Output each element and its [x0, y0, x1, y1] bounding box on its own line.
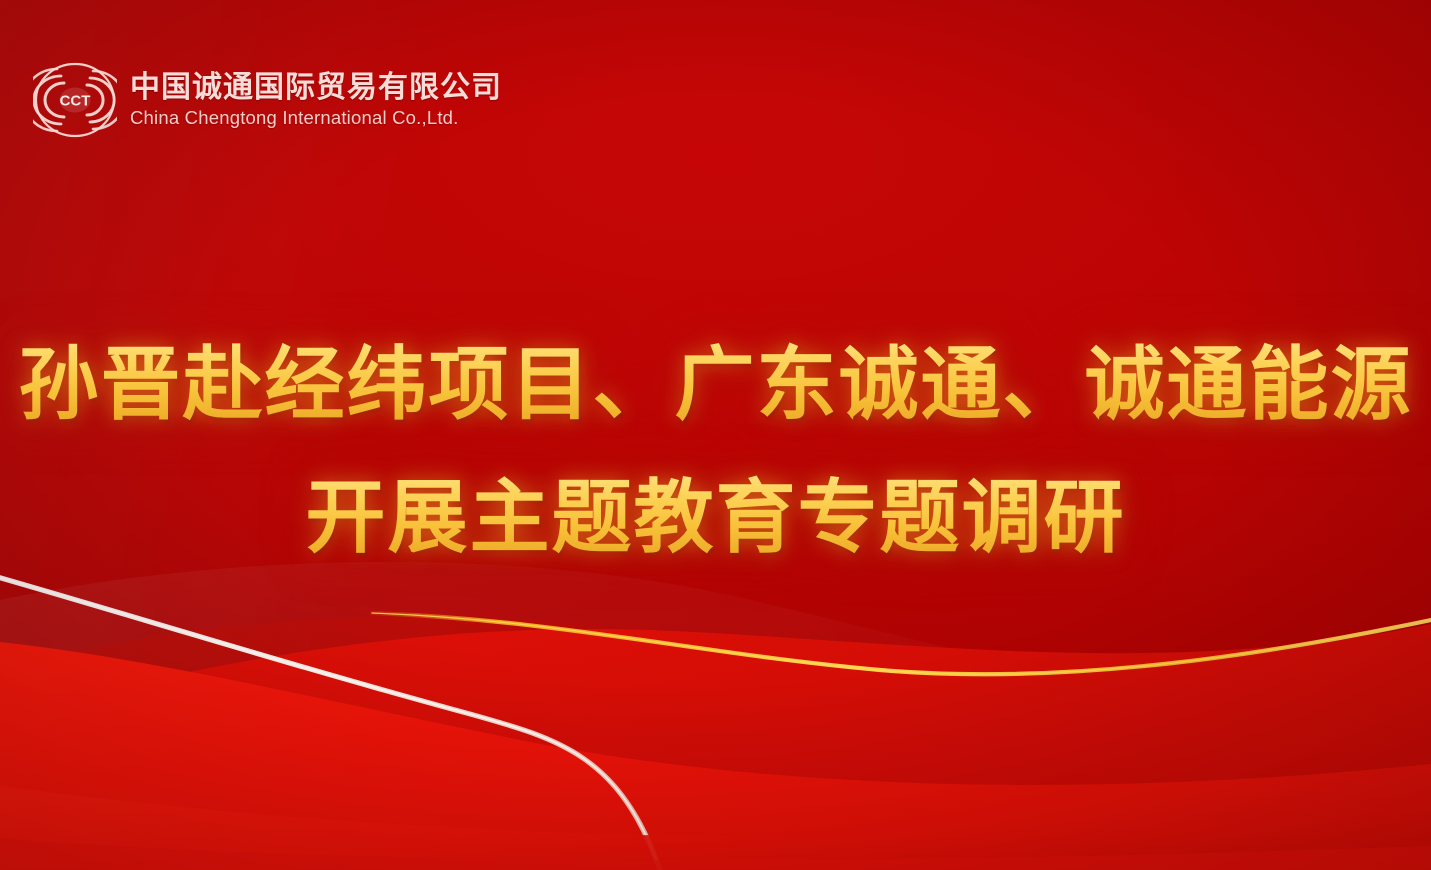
company-logo: CCT 中国诚通国际贸易有限公司 China Chengtong Interna… — [33, 60, 502, 140]
bottom-wave-decoration — [0, 550, 1431, 870]
company-name-cn: 中国诚通国际贸易有限公司 — [130, 73, 502, 103]
concentric-rings-logo-icon: CCT — [33, 60, 117, 140]
logo-mark-text: CCT — [60, 92, 91, 109]
company-name-en: China Chengtong International Co.,Ltd. — [130, 109, 502, 128]
title-slide: CCT 中国诚通国际贸易有限公司 China Chengtong Interna… — [0, 0, 1431, 870]
